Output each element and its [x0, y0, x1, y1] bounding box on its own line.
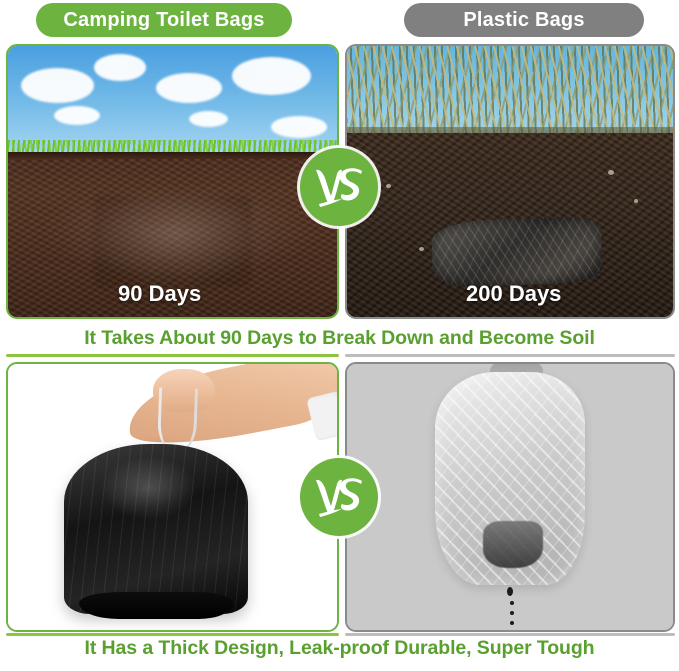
- drawstring: [157, 387, 198, 452]
- panel-product-durability: [6, 362, 339, 632]
- header-pill-row: Camping Toilet Bags Plastic Bags: [0, 0, 679, 40]
- vs-brush-icon: [312, 165, 366, 209]
- leak-drip: [510, 601, 514, 605]
- buried-plastic-bag: [431, 216, 603, 288]
- soil-speck: [419, 247, 424, 251]
- soil-top-edge: [8, 152, 337, 159]
- header-pill-competitor-label: Plastic Bags: [463, 9, 584, 32]
- header-pill-competitor: Plastic Bags: [404, 3, 644, 37]
- photo-leaking-clear-bag: [347, 364, 673, 630]
- panel-competitor-decomposition: [345, 44, 675, 319]
- cloud-icon: [21, 68, 93, 103]
- black-trash-bag: [64, 444, 248, 614]
- bag-contents-shadow: [483, 521, 543, 568]
- panel-product-decomposition: [6, 44, 339, 319]
- caption-row1: It Takes About 90 Days to Break Down and…: [0, 327, 679, 350]
- vs-brush-icon: [312, 475, 366, 519]
- overlay-label-product-days: 90 Days: [118, 281, 201, 307]
- photo-grass-soil: [8, 46, 337, 317]
- cloud-icon: [156, 73, 222, 103]
- vs-badge-row2: [300, 458, 378, 536]
- soil-speck: [386, 184, 391, 188]
- clear-plastic-bag: [435, 372, 585, 585]
- caption-row2: It Has a Thick Design, Leak-proof Durabl…: [0, 637, 679, 660]
- header-pill-product-label: Camping Toilet Bags: [63, 9, 264, 32]
- rule-row1-left: [6, 354, 339, 357]
- cloud-icon: [94, 54, 147, 81]
- cloud-icon: [232, 57, 311, 95]
- header-pill-product: Camping Toilet Bags: [36, 3, 292, 37]
- cloud-icon: [54, 106, 100, 125]
- cloud-icon: [271, 116, 327, 138]
- decomposed-patch: [94, 195, 252, 288]
- soil-speck: [634, 199, 638, 203]
- rule-row2-right: [345, 633, 675, 636]
- overlay-label-competitor-days: 200 Days: [466, 281, 561, 307]
- photo-hand-holding-black-bag: [8, 364, 337, 630]
- comparison-infographic: Camping Toilet Bags Plastic Bags 90 Days: [0, 0, 679, 671]
- rule-row1-right: [345, 354, 675, 357]
- vs-badge-row1: [300, 148, 378, 226]
- soil-speck: [608, 170, 614, 175]
- photo-weeds-buried-bag: [347, 46, 673, 317]
- leak-drip: [510, 621, 514, 625]
- rule-row2-left: [6, 633, 339, 636]
- panel-competitor-durability: [345, 362, 675, 632]
